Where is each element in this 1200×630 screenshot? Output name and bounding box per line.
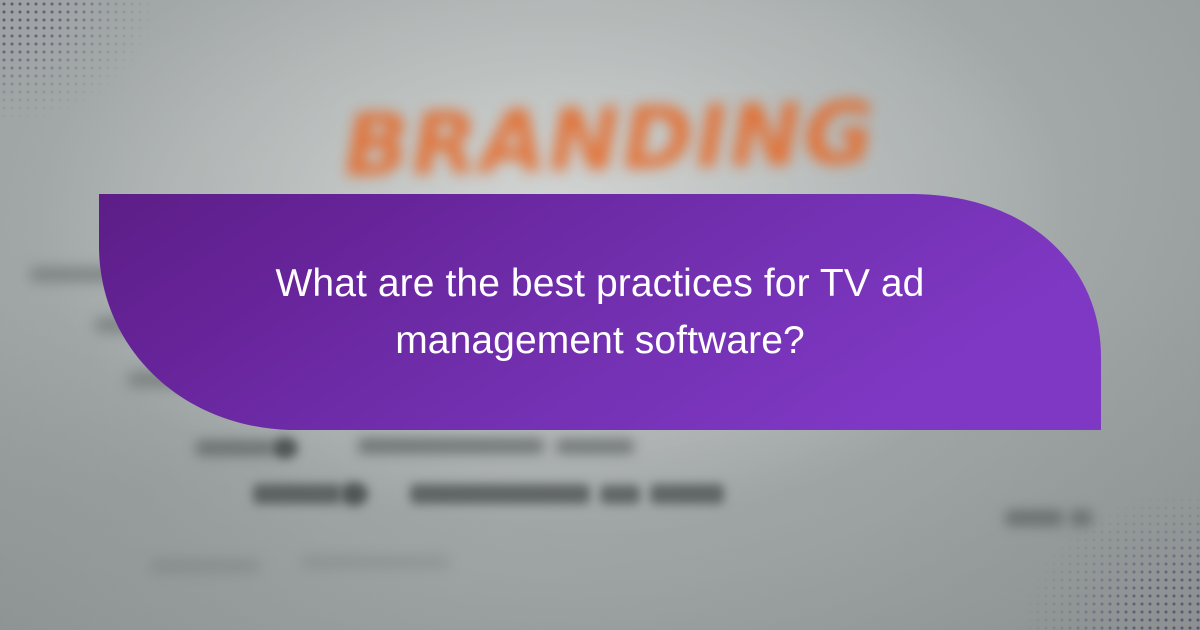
page-title: What are the best practices for TV ad ma… (240, 255, 960, 369)
social-share-card: BRANDING What are the best practices for… (0, 0, 1200, 630)
halftone-dots-bottom-right-icon (1010, 480, 1200, 630)
halftone-dots-top-left-icon (0, 0, 170, 135)
headline-container: What are the best practices for TV ad ma… (99, 194, 1101, 430)
